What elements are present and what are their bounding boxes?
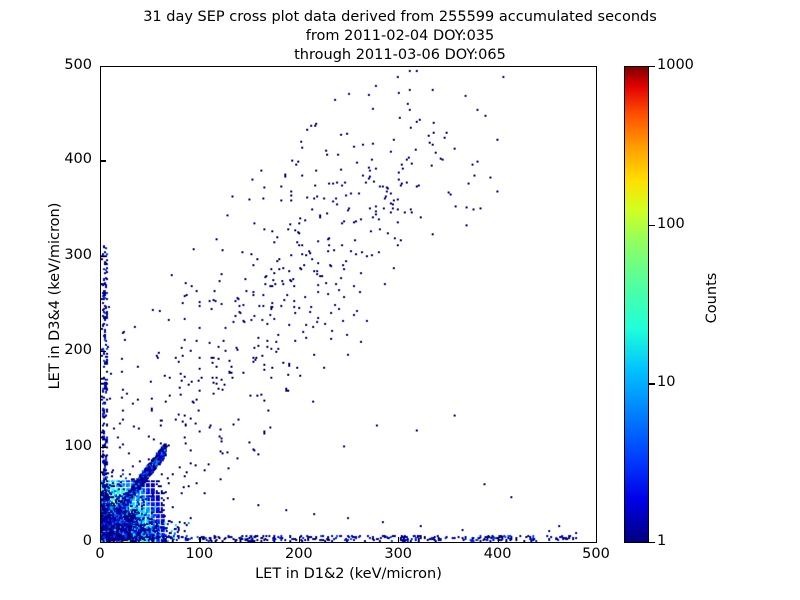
- colorbar-tick-1: [649, 542, 655, 543]
- y-axis-label: LET in D3&4 (keV/micron): [47, 86, 63, 506]
- xtick-100: [199, 537, 200, 543]
- ytick-500: [100, 66, 106, 67]
- xtick-200: [299, 537, 300, 543]
- xtick-label-100: 100: [164, 546, 234, 562]
- chart-title-line-2: from 2011-02-04 DOY:035: [0, 27, 800, 46]
- colorbar-tick-10: [649, 383, 655, 384]
- xtick-label-500: 500: [561, 546, 631, 562]
- ytick-label-0: 0: [10, 533, 92, 549]
- ytick-0: [100, 542, 106, 543]
- xtick-300: [398, 537, 399, 543]
- ytick-100: [100, 447, 106, 448]
- x-axis-label: LET in D1&2 (keV/micron): [100, 566, 597, 582]
- xtick-label-400: 400: [463, 546, 533, 562]
- ytick-200: [100, 351, 106, 352]
- colorbar: [624, 66, 649, 543]
- colorbar-label-10: 10: [657, 374, 675, 390]
- colorbar-label-1: 1: [657, 533, 666, 549]
- colorbar-tick-1000: [649, 66, 655, 67]
- colorbar-title: Counts: [704, 178, 720, 418]
- ytick-label-500: 500: [10, 57, 92, 73]
- ytick-400: [100, 160, 106, 161]
- xtick-500: [596, 537, 597, 543]
- colorbar-label-100: 100: [657, 216, 685, 232]
- figure: 31 day SEP cross plot data derived from …: [0, 0, 800, 600]
- ytick-300: [100, 256, 106, 257]
- xtick-label-300: 300: [363, 546, 433, 562]
- xtick-400: [498, 537, 499, 543]
- chart-title-line-1: 31 day SEP cross plot data derived from …: [0, 8, 800, 27]
- colorbar-label-1000: 1000: [657, 57, 694, 73]
- colorbar-tick-100: [649, 225, 655, 226]
- scatter-density-canvas: [101, 67, 596, 542]
- xtick-label-200: 200: [264, 546, 334, 562]
- plot-area: [100, 66, 597, 543]
